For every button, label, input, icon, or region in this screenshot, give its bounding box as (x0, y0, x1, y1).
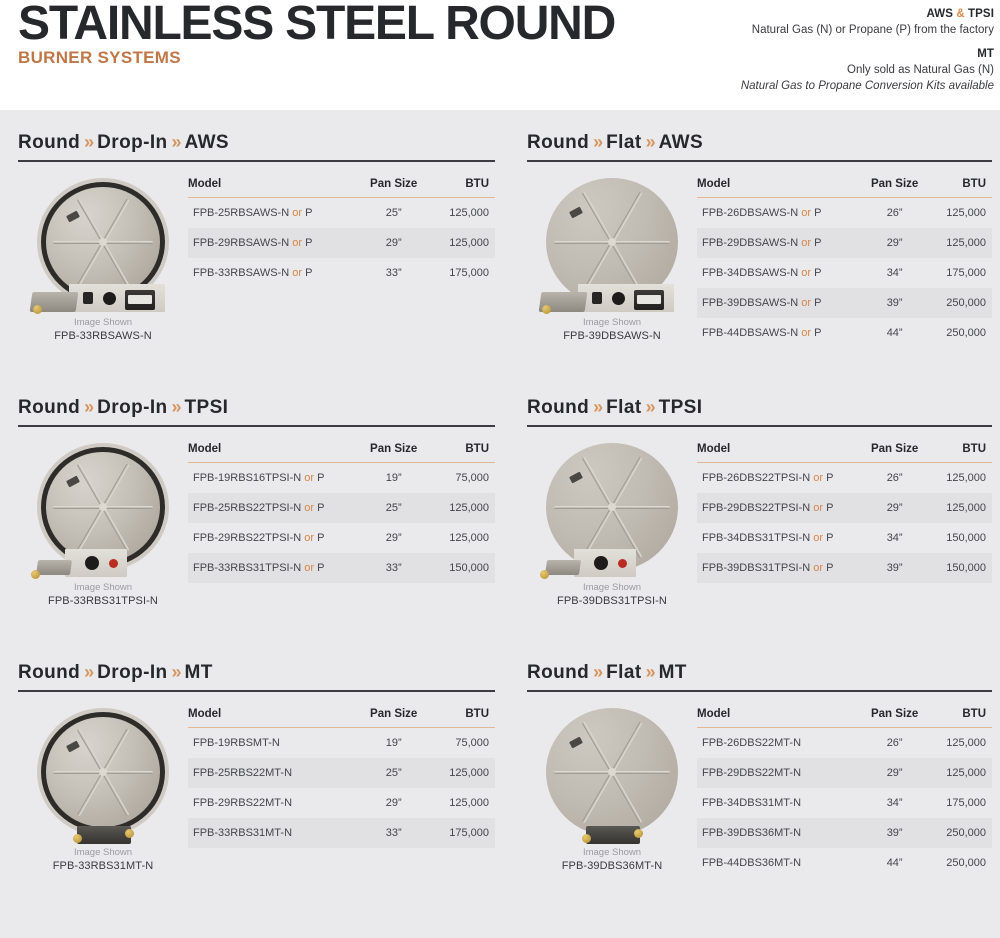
table-body: FPB-25RBSAWS-N or P 25” 125,000 FPB-29RB… (188, 198, 495, 289)
table-row[interactable]: FPB-33RBS31MT-N 33” 175,000 (188, 818, 495, 848)
brass-fitting-icon (542, 305, 551, 314)
breadcrumb-crumb[interactable]: AWS (659, 132, 703, 153)
spec-table-column: Model Pan Size BTU FPB-19RBS16TPSI-N or … (188, 437, 495, 583)
or-label: or (304, 472, 314, 484)
product-image (532, 439, 692, 579)
port-icon (83, 292, 93, 304)
cell-btu: 125,000 (427, 523, 495, 553)
section-round-flat-aws: Round»Flat»AWS Image Shown FPB- (505, 132, 1000, 397)
cell-pan-size: 39” (862, 288, 927, 318)
col-header-model: Model (188, 708, 360, 728)
control-hardware-mt (29, 810, 179, 844)
cell-model: FPB-29DBS22TPSI-N or P (697, 493, 862, 523)
cell-btu: 125,000 (427, 493, 495, 523)
propane-label: P (317, 472, 324, 484)
section-breadcrumb: Round»Flat»AWS (527, 132, 992, 162)
col-header-pan-size: Pan Size (360, 178, 428, 198)
cell-model: FPB-33RBS31MT-N (188, 818, 360, 848)
chevron-right-icon: » (642, 132, 659, 152)
spec-table: Model Pan Size BTU FPB-25RBSAWS-N or P 2… (188, 178, 495, 288)
table-row[interactable]: FPB-34DBS31TPSI-N or P 34” 150,000 (697, 523, 992, 553)
ampersand-icon: & (956, 8, 964, 20)
gas-valve-icon (36, 560, 72, 575)
chevron-right-icon: » (168, 397, 185, 417)
cell-pan-size: 29” (360, 788, 428, 818)
cell-pan-size: 34” (862, 523, 927, 553)
chevron-right-icon: » (168, 662, 185, 682)
breadcrumb-crumb[interactable]: Round (527, 397, 589, 418)
breadcrumb-crumb[interactable]: MT (659, 662, 687, 683)
section-body: Image Shown FPB-39DBS36MT-N Model Pan Si… (527, 702, 992, 878)
breadcrumb-crumb[interactable]: Round (18, 132, 80, 153)
section-breadcrumb: Round»Drop-In»TPSI (18, 397, 495, 427)
cell-pan-size: 34” (862, 788, 927, 818)
page-title: STAINLESS STEEL ROUND (18, 0, 615, 46)
propane-label: P (814, 267, 821, 279)
cell-model: FPB-19RBSMT-N (188, 728, 360, 759)
table-body: FPB-19RBS16TPSI-N or P 19” 75,000 FPB-25… (188, 463, 495, 584)
table-header-row: Model Pan Size BTU (697, 178, 992, 198)
section-body: Image Shown FPB-33RBS31TPSI-N Model Pan … (18, 437, 495, 608)
manifold-icon (586, 826, 640, 844)
module-icon (125, 290, 155, 310)
spec-table-column: Model Pan Size BTU FPB-26DBS22TPSI-N or … (697, 437, 992, 583)
or-label: or (292, 207, 302, 219)
propane-label: P (814, 237, 821, 249)
breadcrumb-crumb[interactable]: AWS (185, 132, 229, 153)
cell-pan-size: 29” (862, 758, 927, 788)
table-header-row: Model Pan Size BTU (697, 443, 992, 463)
manifold-icon (77, 826, 131, 844)
cell-btu: 175,000 (927, 788, 992, 818)
chevron-right-icon: » (168, 132, 185, 152)
cell-model: FPB-33RBS31TPSI-N or P (188, 553, 360, 583)
brass-fitting-icon (73, 834, 82, 843)
col-header-model: Model (697, 708, 862, 728)
or-label: or (813, 562, 823, 574)
burner-hub-icon (99, 503, 107, 511)
cell-pan-size: 25” (360, 198, 428, 229)
burner-hub-icon (99, 238, 107, 246)
or-label: or (292, 267, 302, 279)
product-image-column: Image Shown FPB-39DBSAWS-N (527, 172, 697, 343)
cell-btu: 125,000 (427, 228, 495, 258)
cell-model: FPB-39DBS36MT-N (697, 818, 862, 848)
or-label: or (801, 207, 811, 219)
col-header-btu: BTU (927, 178, 992, 198)
section-round-drop-in-aws: Round»Drop-In»AWS Image Shown F (0, 132, 505, 397)
page-subtitle: BURNER SYSTEMS (18, 48, 615, 68)
page-header: STAINLESS STEEL ROUND BURNER SYSTEMS AWS… (0, 0, 1000, 110)
or-label: or (801, 267, 811, 279)
section-breadcrumb: Round»Drop-In»AWS (18, 132, 495, 162)
table-row[interactable]: FPB-44DBSAWS-N or P 44” 250,000 (697, 318, 992, 348)
cell-model: FPB-34DBS31TPSI-N or P (697, 523, 862, 553)
table-row[interactable]: FPB-29RBS22MT-N 29” 125,000 (188, 788, 495, 818)
or-label: or (304, 502, 314, 514)
cell-model: FPB-34DBSAWS-N or P (697, 258, 862, 288)
cell-btu: 75,000 (427, 728, 495, 759)
control-hardware-aws (29, 280, 179, 314)
cell-btu: 125,000 (927, 228, 992, 258)
image-shown-label: Image Shown (18, 317, 188, 329)
breadcrumb-crumb[interactable]: Drop-In (97, 132, 167, 153)
breadcrumb-crumb[interactable]: Round (527, 132, 589, 153)
spec-table-column: Model Pan Size BTU FPB-25RBSAWS-N or P 2… (188, 172, 495, 288)
col-header-btu: BTU (927, 443, 992, 463)
cell-btu: 150,000 (927, 523, 992, 553)
igniter-electrode-icon (66, 741, 80, 753)
cell-btu: 75,000 (427, 463, 495, 494)
or-label: or (813, 502, 823, 514)
cell-model: FPB-29RBS22MT-N (188, 788, 360, 818)
section-round-drop-in-mt: Round»Drop-In»MT Image Shown FPB-33RBS31… (0, 662, 505, 932)
cell-model: FPB-26DBSAWS-N or P (697, 198, 862, 229)
section-body: Image Shown FPB-33RBS31MT-N Model Pan Si… (18, 702, 495, 873)
gas-notes: AWS & TPSI Natural Gas (N) or Propane (P… (574, 7, 994, 94)
chevron-right-icon: » (642, 662, 659, 682)
module-icon (634, 290, 664, 310)
cell-model: FPB-39DBS31TPSI-N or P (697, 553, 862, 583)
table-row[interactable]: FPB-19RBS16TPSI-N or P 19” 75,000 (188, 463, 495, 494)
propane-label: P (305, 267, 312, 279)
chevron-right-icon: » (589, 662, 606, 682)
table-header-row: Model Pan Size BTU (188, 708, 495, 728)
image-shown-model: FPB-39DBSAWS-N (527, 329, 697, 343)
image-shown-label: Image Shown (527, 847, 697, 859)
brass-fitting-icon (125, 829, 134, 838)
note-group-aws-tpsi-title: AWS & TPSI (574, 7, 994, 22)
cell-model: FPB-25RBS22MT-N (188, 758, 360, 788)
chevron-right-icon: » (589, 397, 606, 417)
igniter-button-icon (618, 559, 627, 568)
section-body: Image Shown FPB-39DBS31TPSI-N Model Pan … (527, 437, 992, 608)
igniter-electrode-icon (66, 211, 80, 223)
gas-valve-icon (545, 560, 581, 575)
cell-btu: 250,000 (927, 848, 992, 878)
igniter-electrode-icon (569, 471, 583, 483)
cell-model: FPB-29DBSAWS-N or P (697, 228, 862, 258)
table-row[interactable]: FPB-29DBS22MT-N 29” 125,000 (697, 758, 992, 788)
cell-btu: 125,000 (427, 198, 495, 229)
breadcrumb-crumb[interactable]: Round (18, 662, 80, 683)
product-image-column: Image Shown FPB-39DBS36MT-N (527, 702, 697, 873)
col-header-pan-size: Pan Size (862, 708, 927, 728)
spec-table: Model Pan Size BTU FPB-26DBS22MT-N 26” 1… (697, 708, 992, 878)
cell-pan-size: 19” (360, 728, 428, 759)
product-image-column: Image Shown FPB-33RBS31TPSI-N (18, 437, 188, 608)
cell-btu: 250,000 (927, 318, 992, 348)
breadcrumb-crumb[interactable]: TPSI (659, 397, 703, 418)
cell-btu: 125,000 (427, 758, 495, 788)
propane-label: P (305, 207, 312, 219)
image-shown-label: Image Shown (527, 317, 697, 329)
cell-model: FPB-19RBS16TPSI-N or P (188, 463, 360, 494)
or-label: or (801, 297, 811, 309)
table-header-row: Model Pan Size BTU (188, 443, 495, 463)
igniter-electrode-icon (66, 476, 80, 488)
propane-label: P (305, 237, 312, 249)
cell-pan-size: 25” (360, 758, 428, 788)
note-mt-line1: Only sold as Natural Gas (N) (574, 62, 994, 78)
cell-btu: 125,000 (927, 493, 992, 523)
breadcrumb-crumb[interactable]: Drop-In (97, 662, 167, 683)
cell-pan-size: 44” (862, 848, 927, 878)
or-label: or (813, 472, 823, 484)
table-row[interactable]: FPB-33RBSAWS-N or P 33” 175,000 (188, 258, 495, 288)
table-row[interactable]: FPB-39DBS36MT-N 39” 250,000 (697, 818, 992, 848)
cell-btu: 125,000 (927, 198, 992, 229)
cell-pan-size: 29” (360, 228, 428, 258)
breadcrumb-crumb[interactable]: Round (527, 662, 589, 683)
cell-model: FPB-44DBSAWS-N or P (697, 318, 862, 348)
note-aws-tpsi-line1: Natural Gas (N) or Propane (P) from the … (574, 22, 994, 38)
catalog-page: STAINLESS STEEL ROUND BURNER SYSTEMS AWS… (0, 0, 1000, 938)
knob-icon (85, 556, 99, 570)
col-header-pan-size: Pan Size (360, 708, 428, 728)
cell-btu: 250,000 (927, 288, 992, 318)
chevron-right-icon: » (642, 397, 659, 417)
image-shown-model: FPB-33RBSAWS-N (18, 329, 188, 343)
note-group-mt-title: MT (574, 47, 994, 62)
section-breadcrumb: Round»Drop-In»MT (18, 662, 495, 692)
propane-label: P (814, 327, 821, 339)
igniter-electrode-icon (569, 736, 583, 748)
port-icon (592, 292, 602, 304)
note-tpsi-label: TPSI (965, 8, 994, 20)
product-image (532, 704, 692, 844)
cell-btu: 150,000 (927, 553, 992, 583)
table-body: FPB-26DBS22MT-N 26” 125,000 FPB-29DBS22M… (697, 728, 992, 879)
table-row[interactable]: FPB-34DBS31MT-N 34” 175,000 (697, 788, 992, 818)
table-row[interactable]: FPB-26DBSAWS-N or P 26” 125,000 (697, 198, 992, 229)
propane-label: P (826, 472, 833, 484)
or-label: or (292, 237, 302, 249)
section-round-drop-in-tpsi: Round»Drop-In»TPSI Image Shown FPB-33RBS (0, 397, 505, 662)
cell-pan-size: 33” (360, 553, 428, 583)
cell-btu: 175,000 (427, 258, 495, 288)
image-shown-label: Image Shown (18, 582, 188, 594)
spec-table-column: Model Pan Size BTU FPB-26DBS22MT-N 26” 1… (697, 702, 992, 878)
section-body: Image Shown FPB-39DBSAWS-N Model Pan Siz… (527, 172, 992, 348)
table-row[interactable]: FPB-34DBSAWS-N or P 34” 175,000 (697, 258, 992, 288)
cell-btu: 125,000 (927, 758, 992, 788)
propane-label: P (814, 297, 821, 309)
control-hardware-tpsi (538, 545, 688, 579)
chevron-right-icon: » (80, 397, 97, 417)
table-row[interactable]: FPB-26DBS22MT-N 26” 125,000 (697, 728, 992, 759)
propane-label: P (826, 562, 833, 574)
burner-hub-icon (608, 238, 616, 246)
breadcrumb-crumb[interactable]: Round (18, 397, 80, 418)
cell-pan-size: 33” (360, 818, 428, 848)
table-row[interactable]: FPB-29RBS22TPSI-N or P 29” 125,000 (188, 523, 495, 553)
image-shown-label: Image Shown (527, 582, 697, 594)
product-image-column: Image Shown FPB-39DBS31TPSI-N (527, 437, 697, 608)
cell-pan-size: 29” (360, 523, 428, 553)
table-body: FPB-26DBSAWS-N or P 26” 125,000 FPB-29DB… (697, 198, 992, 349)
spec-table-column: Model Pan Size BTU FPB-26DBSAWS-N or P 2… (697, 172, 992, 348)
propane-label: P (317, 502, 324, 514)
chevron-right-icon: » (589, 132, 606, 152)
cell-btu: 175,000 (427, 818, 495, 848)
table-row[interactable]: FPB-29RBSAWS-N or P 29” 125,000 (188, 228, 495, 258)
table-row[interactable]: FPB-25RBS22TPSI-N or P 25” 125,000 (188, 493, 495, 523)
propane-label: P (814, 207, 821, 219)
table-header-row: Model Pan Size BTU (188, 178, 495, 198)
propane-label: P (317, 562, 324, 574)
module-label-icon (128, 295, 152, 304)
cell-model: FPB-25RBS22TPSI-N or P (188, 493, 360, 523)
or-label: or (304, 562, 314, 574)
burner-hub-icon (608, 768, 616, 776)
cell-btu: 125,000 (427, 788, 495, 818)
cell-pan-size: 29” (862, 228, 927, 258)
cell-model: FPB-33RBSAWS-N or P (188, 258, 360, 288)
or-label: or (801, 327, 811, 339)
or-label: or (813, 532, 823, 544)
cell-pan-size: 25” (360, 493, 428, 523)
cell-pan-size: 26” (862, 463, 927, 494)
table-body: FPB-19RBSMT-N 19” 75,000 FPB-25RBS22MT-N… (188, 728, 495, 849)
title-block: STAINLESS STEEL ROUND BURNER SYSTEMS (18, 0, 615, 68)
brass-fitting-icon (540, 570, 549, 579)
product-image (23, 704, 183, 844)
propane-label: P (317, 532, 324, 544)
table-row[interactable]: FPB-26DBS22TPSI-N or P 26” 125,000 (697, 463, 992, 494)
knob-icon (612, 292, 625, 305)
col-header-btu: BTU (427, 178, 495, 198)
breadcrumb-crumb[interactable]: Drop-In (97, 397, 167, 418)
breadcrumb-crumb[interactable]: MT (185, 662, 213, 683)
control-hardware-aws (538, 280, 688, 314)
cell-btu: 175,000 (927, 258, 992, 288)
cell-pan-size: 44” (862, 318, 927, 348)
col-header-pan-size: Pan Size (862, 178, 927, 198)
cell-btu: 125,000 (927, 463, 992, 494)
spec-table: Model Pan Size BTU FPB-26DBSAWS-N or P 2… (697, 178, 992, 348)
section-body: Image Shown FPB-33RBSAWS-N Model Pan Siz… (18, 172, 495, 343)
section-breadcrumb: Round»Flat»MT (527, 662, 992, 692)
col-header-pan-size: Pan Size (360, 443, 428, 463)
cell-model: FPB-34DBS31MT-N (697, 788, 862, 818)
table-row[interactable]: FPB-44DBS36MT-N 44” 250,000 (697, 848, 992, 878)
cell-pan-size: 29” (862, 493, 927, 523)
igniter-electrode-icon (569, 206, 583, 218)
table-row[interactable]: FPB-29DBSAWS-N or P 29” 125,000 (697, 228, 992, 258)
cell-model: FPB-26DBS22TPSI-N or P (697, 463, 862, 494)
brass-fitting-icon (634, 829, 643, 838)
image-shown-model: FPB-33RBS31MT-N (18, 859, 188, 873)
knob-icon (594, 556, 608, 570)
image-shown-model: FPB-39DBS31TPSI-N (527, 594, 697, 608)
col-header-btu: BTU (427, 708, 495, 728)
cell-btu: 125,000 (927, 728, 992, 759)
product-image-column: Image Shown FPB-33RBS31MT-N (18, 702, 188, 873)
table-row[interactable]: FPB-25RBSAWS-N or P 25” 125,000 (188, 198, 495, 229)
col-header-btu: BTU (427, 443, 495, 463)
spec-table: Model Pan Size BTU FPB-19RBSMT-N 19” 75,… (188, 708, 495, 848)
cell-btu: 250,000 (927, 818, 992, 848)
cell-model: FPB-26DBS22MT-N (697, 728, 862, 759)
spec-table: Model Pan Size BTU FPB-26DBS22TPSI-N or … (697, 443, 992, 583)
breadcrumb-crumb[interactable]: TPSI (185, 397, 229, 418)
product-image (532, 174, 692, 314)
cell-pan-size: 34” (862, 258, 927, 288)
cell-model: FPB-39DBSAWS-N or P (697, 288, 862, 318)
or-label: or (304, 532, 314, 544)
breadcrumb-crumb[interactable]: Flat (606, 662, 641, 683)
table-row[interactable]: FPB-29DBS22TPSI-N or P 29” 125,000 (697, 493, 992, 523)
cell-btu: 150,000 (427, 553, 495, 583)
table-body: FPB-26DBS22TPSI-N or P 26” 125,000 FPB-2… (697, 463, 992, 584)
cell-pan-size: 39” (862, 818, 927, 848)
table-row[interactable]: FPB-39DBSAWS-N or P 39” 250,000 (697, 288, 992, 318)
cell-model: FPB-29RBS22TPSI-N or P (188, 523, 360, 553)
image-shown-label: Image Shown (18, 847, 188, 859)
note-aws-label: AWS (927, 8, 957, 20)
or-label: or (801, 237, 811, 249)
chevron-right-icon: » (80, 132, 97, 152)
note-spacer (574, 38, 994, 47)
module-label-icon (637, 295, 661, 304)
col-header-model: Model (697, 443, 862, 463)
catalog-content: Round»Drop-In»AWS Image Shown F (0, 110, 1000, 932)
propane-label: P (826, 532, 833, 544)
table-row[interactable]: FPB-19RBSMT-N 19” 75,000 (188, 728, 495, 759)
section-breadcrumb: Round»Flat»TPSI (527, 397, 992, 427)
cell-pan-size: 19” (360, 463, 428, 494)
table-row[interactable]: FPB-25RBS22MT-N 25” 125,000 (188, 758, 495, 788)
section-grid: Round»Drop-In»AWS Image Shown F (0, 132, 1000, 932)
brass-fitting-icon (31, 570, 40, 579)
col-header-pan-size: Pan Size (862, 443, 927, 463)
table-row[interactable]: FPB-33RBS31TPSI-N or P 33” 150,000 (188, 553, 495, 583)
image-shown-model: FPB-39DBS36MT-N (527, 859, 697, 873)
cell-model: FPB-29DBS22MT-N (697, 758, 862, 788)
col-header-model: Model (188, 443, 360, 463)
cell-pan-size: 26” (862, 728, 927, 759)
breadcrumb-crumb[interactable]: Flat (606, 397, 641, 418)
note-mt-line2: Natural Gas to Propane Conversion Kits a… (574, 78, 994, 94)
control-hardware-tpsi (29, 545, 179, 579)
cell-model: FPB-44DBS36MT-N (697, 848, 862, 878)
cell-model: FPB-25RBSAWS-N or P (188, 198, 360, 229)
breadcrumb-crumb[interactable]: Flat (606, 132, 641, 153)
propane-label: P (826, 502, 833, 514)
product-image (23, 174, 183, 314)
image-shown-model: FPB-33RBS31TPSI-N (18, 594, 188, 608)
brass-fitting-icon (582, 834, 591, 843)
cell-pan-size: 39” (862, 553, 927, 583)
igniter-button-icon (109, 559, 118, 568)
brass-fitting-icon (33, 305, 42, 314)
table-row[interactable]: FPB-39DBS31TPSI-N or P 39” 150,000 (697, 553, 992, 583)
col-header-model: Model (697, 178, 862, 198)
col-header-btu: BTU (927, 708, 992, 728)
spec-table: Model Pan Size BTU FPB-19RBS16TPSI-N or … (188, 443, 495, 583)
spec-table-column: Model Pan Size BTU FPB-19RBSMT-N 19” 75,… (188, 702, 495, 848)
burner-hub-icon (99, 768, 107, 776)
section-round-flat-mt: Round»Flat»MT Image Shown FPB-39DBS36MT-… (505, 662, 1000, 932)
cell-pan-size: 26” (862, 198, 927, 229)
chevron-right-icon: » (80, 662, 97, 682)
cell-pan-size: 33” (360, 258, 428, 288)
col-header-model: Model (188, 178, 360, 198)
cell-model: FPB-29RBSAWS-N or P (188, 228, 360, 258)
product-image (23, 439, 183, 579)
knob-icon (103, 292, 116, 305)
